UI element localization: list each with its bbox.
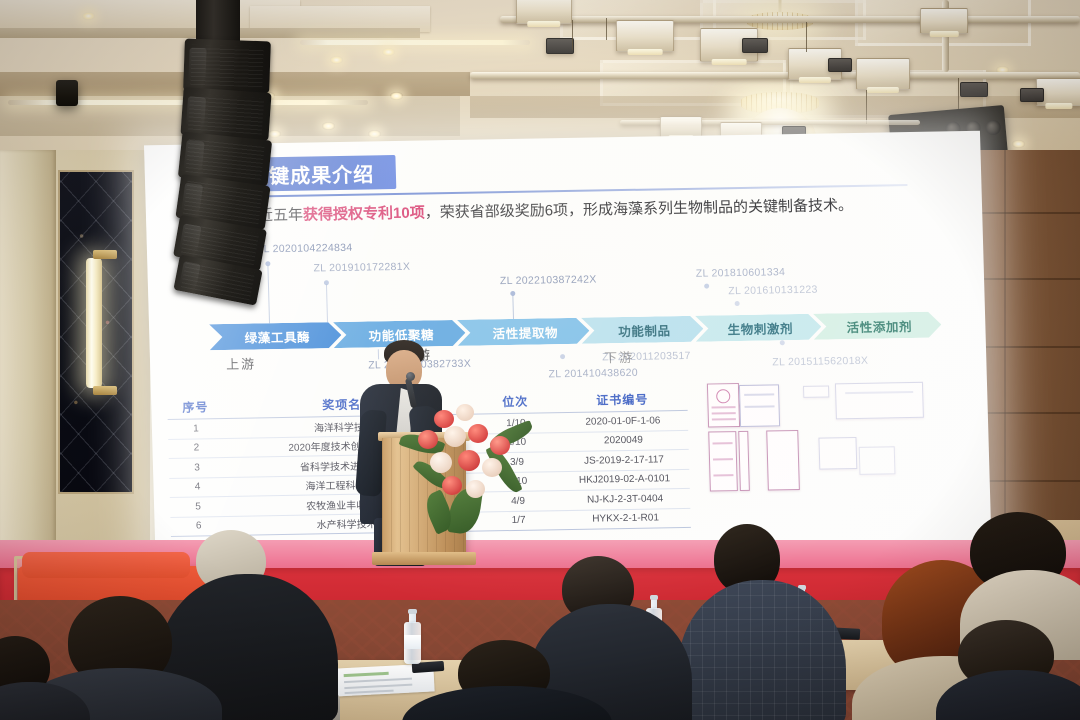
line-array-speaker-stack [168, 0, 280, 296]
flow-stage-label-upstream: 上游 [226, 353, 257, 373]
torso [0, 682, 90, 720]
microphone-head [406, 372, 415, 381]
conference-photo-scene: 5. 关键成果介绍 近五年获得授权专利10项，荣获省部级奖励6项，形成海藻系列生… [0, 0, 1080, 720]
slide-subtitle: 近五年获得授权专利10项，荣获省部级奖励6项，形成海藻系列生物制品的关键制备技术… [258, 193, 959, 228]
certificate-image [818, 437, 857, 470]
certificate-image [738, 431, 750, 491]
cell-cert: JS-2019-2-17-117 [559, 454, 689, 467]
subtitle-highlight: 获得授权专利10项 [303, 204, 425, 223]
cell-cert: HKJ2019-02-A-0101 [559, 473, 689, 486]
certificate-image [803, 385, 829, 397]
floral-arrangement [404, 392, 536, 522]
torso [678, 580, 846, 720]
stage-light [960, 82, 988, 97]
cell-no: 5 [170, 501, 226, 513]
certificate-image [707, 383, 740, 428]
stage-light [616, 20, 674, 52]
process-flow-chain: 绿藻工具酶 功能低聚糖 活性提取物 功能制品 生物刺激剂 活性添加剂 [209, 312, 934, 351]
flow-stage-label-downstream: 下游 [604, 347, 635, 367]
flow-node-label: 功能制品 [618, 320, 671, 340]
flow-node-6: 活性添加剂 [813, 311, 942, 339]
subtitle-part-3: ，荣获省部级奖励6项，形成海藻系列生物制品的关键制备技术。 [424, 197, 853, 221]
torso [936, 670, 1080, 720]
cell-cert: 2020049 [558, 434, 688, 447]
cell-cert: NJ-KJ-2-3T-0404 [560, 493, 690, 506]
certificate-image [739, 384, 780, 427]
stage-light [546, 38, 574, 54]
certificate-image [835, 382, 924, 420]
cell-no: 3 [169, 462, 225, 474]
audience-member [672, 524, 852, 720]
wall-sconce [86, 258, 102, 388]
flow-node-1: 绿藻工具酶 [209, 322, 342, 350]
flow-node-3: 活性提取物 [457, 318, 590, 346]
cell-cert: 2020-01-0F-1-06 [558, 415, 688, 428]
certificate-image [766, 430, 800, 491]
cell-no: 1 [168, 423, 224, 435]
flow-node-label: 绿藻工具酶 [244, 326, 310, 346]
flow-node-5: 生物刺激剂 [695, 314, 822, 342]
patent-label: ZL 201410438620 [548, 367, 638, 381]
flow-node-label: 生物刺激剂 [727, 318, 793, 338]
stage-light [742, 38, 768, 53]
patent-label: ZL 201610131223 [728, 284, 818, 298]
cell-no: 4 [169, 481, 225, 493]
audience-member [0, 636, 80, 720]
col-header-no: 序号 [167, 398, 223, 416]
stage-light [920, 8, 968, 34]
certificate-image [859, 446, 896, 475]
stage-light [856, 58, 910, 90]
patent-label: ZL 201511562018X [772, 355, 868, 369]
stage-light [1020, 88, 1044, 102]
patent-label: ZL 201810601334 [696, 266, 786, 280]
cell-no: 2 [168, 442, 224, 454]
podium-base [372, 552, 476, 565]
flow-node-4: 功能制品 [581, 316, 704, 344]
certificate-image [708, 431, 738, 491]
torso [402, 686, 612, 720]
flow-node-label: 活性添加剂 [846, 315, 912, 335]
patent-label: ZL 202210387242X [500, 273, 597, 287]
stage-light [828, 58, 852, 72]
lighting-truss [470, 72, 1080, 79]
audience-member [936, 620, 1080, 720]
wall-speaker [56, 80, 78, 106]
flow-node-label: 活性提取物 [492, 322, 558, 342]
col-header-cert: 证书编号 [557, 389, 687, 408]
certificate-collage [707, 379, 973, 516]
lighting-truss [500, 16, 1080, 23]
patent-label: ZL 201910172281X [313, 261, 410, 275]
audience-member [402, 640, 602, 720]
stage-light [516, 0, 572, 24]
